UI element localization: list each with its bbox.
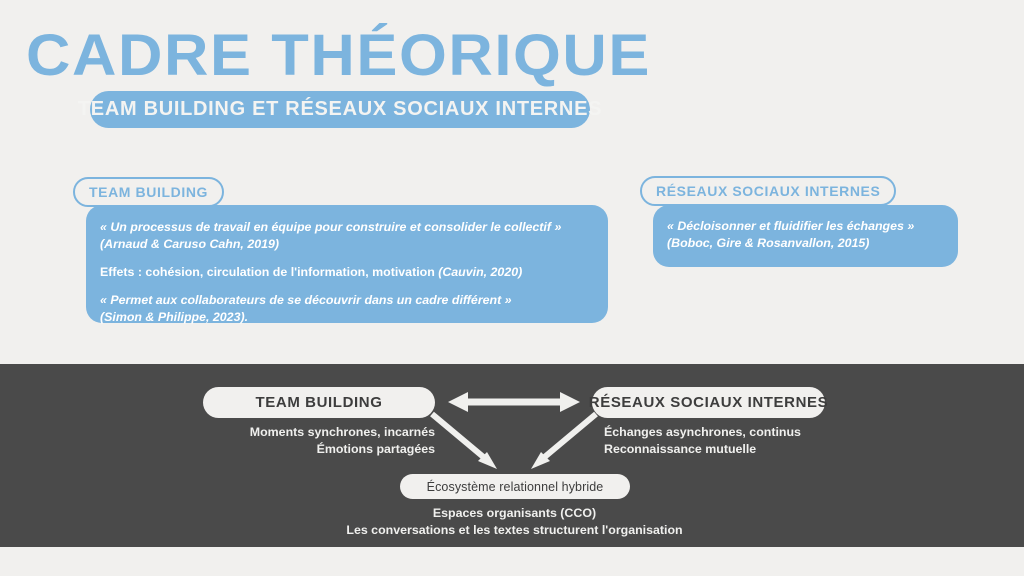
card-left-line-3: « Permet aux collaborateurs de se découv… <box>100 292 598 326</box>
bidirectional-arrow-left-right-icon <box>448 392 580 412</box>
card-left-source-3: (Simon & Philippe, 2023). <box>100 310 248 324</box>
page-title: Cadre théorique <box>26 26 651 86</box>
card-left-quote-3: « Permet aux collaborateurs de se découv… <box>100 293 512 307</box>
diagram-node-reseaux-label: Réseaux sociaux internes <box>589 394 828 411</box>
concept-card-team-building: « Un processus de travail en équipe pour… <box>86 205 608 323</box>
diagram-node-reseaux-sociaux-internes: Réseaux sociaux internes <box>592 387 825 418</box>
card-left-line-2: Effets : cohésion, circulation de l'info… <box>100 264 598 281</box>
concept-card-left-body: « Un processus de travail en équipe pour… <box>100 219 598 326</box>
concept-card-reseaux-sociaux-internes: « Décloisonner et fluidifier les échange… <box>653 205 958 267</box>
diagram-node-ecosysteme-label: Écosystème relationnel hybride <box>427 480 604 494</box>
concept-card-right-tab-label: Réseaux sociaux internes <box>656 183 880 199</box>
diagram-node-center-subtext: Espaces organisants (CCO) Les conversati… <box>257 505 772 539</box>
subtitle-text: Team building et réseaux sociaux interne… <box>78 98 602 121</box>
arrow-left-to-center-icon <box>432 414 497 469</box>
diagram-node-team-building-label: Team building <box>256 394 383 411</box>
concept-card-right-body: « Décloisonner et fluidifier les échange… <box>667 218 948 252</box>
concept-card-right-tab: Réseaux sociaux internes <box>640 176 896 206</box>
card-right-quote-1: « Décloisonner et fluidifier les échange… <box>667 219 914 233</box>
card-left-quote-2: Effets : cohésion, circulation de l'info… <box>100 265 438 279</box>
diagram-panel: Team building Moments synchrones, incarn… <box>0 364 1024 547</box>
diagram-left-sub-line-2: Émotions partagées <box>190 441 435 458</box>
diagram-right-sub-line-1: Échanges asynchrones, continus <box>604 424 864 441</box>
diagram-node-ecosysteme-relationnel-hybride: Écosystème relationnel hybride <box>400 474 630 499</box>
slide-canvas: Cadre théorique Team building et réseaux… <box>0 0 1024 576</box>
diagram-node-team-building: Team building <box>203 387 435 418</box>
card-left-quote-1: « Un processus de travail en équipe pour… <box>100 220 561 234</box>
concept-card-left-tab-label: Team building <box>89 184 208 200</box>
diagram-center-sub-line-1: Espaces organisants (CCO) <box>257 505 772 522</box>
card-left-source-2: (Cauvin, 2020) <box>438 265 522 279</box>
diagram-node-right-subtext: Échanges asynchrones, continus Reconnais… <box>604 424 864 458</box>
concept-card-left-tab: Team building <box>73 177 224 207</box>
card-right-source-1: (Boboc, Gire & Rosanvallon, 2015) <box>667 236 869 250</box>
card-left-source-1: (Arnaud & Caruso Cahn, 2019) <box>100 237 279 251</box>
diagram-node-left-subtext: Moments synchrones, incarnés Émotions pa… <box>190 424 435 458</box>
arrow-right-to-center-icon <box>531 414 596 469</box>
diagram-center-sub-line-2: Les conversations et les textes structur… <box>257 522 772 539</box>
diagram-left-sub-line-1: Moments synchrones, incarnés <box>190 424 435 441</box>
card-left-line-1: « Un processus de travail en équipe pour… <box>100 219 598 253</box>
subtitle-pill: Team building et réseaux sociaux interne… <box>90 91 590 128</box>
card-right-line-1: « Décloisonner et fluidifier les échange… <box>667 218 948 252</box>
diagram-right-sub-line-2: Reconnaissance mutuelle <box>604 441 864 458</box>
